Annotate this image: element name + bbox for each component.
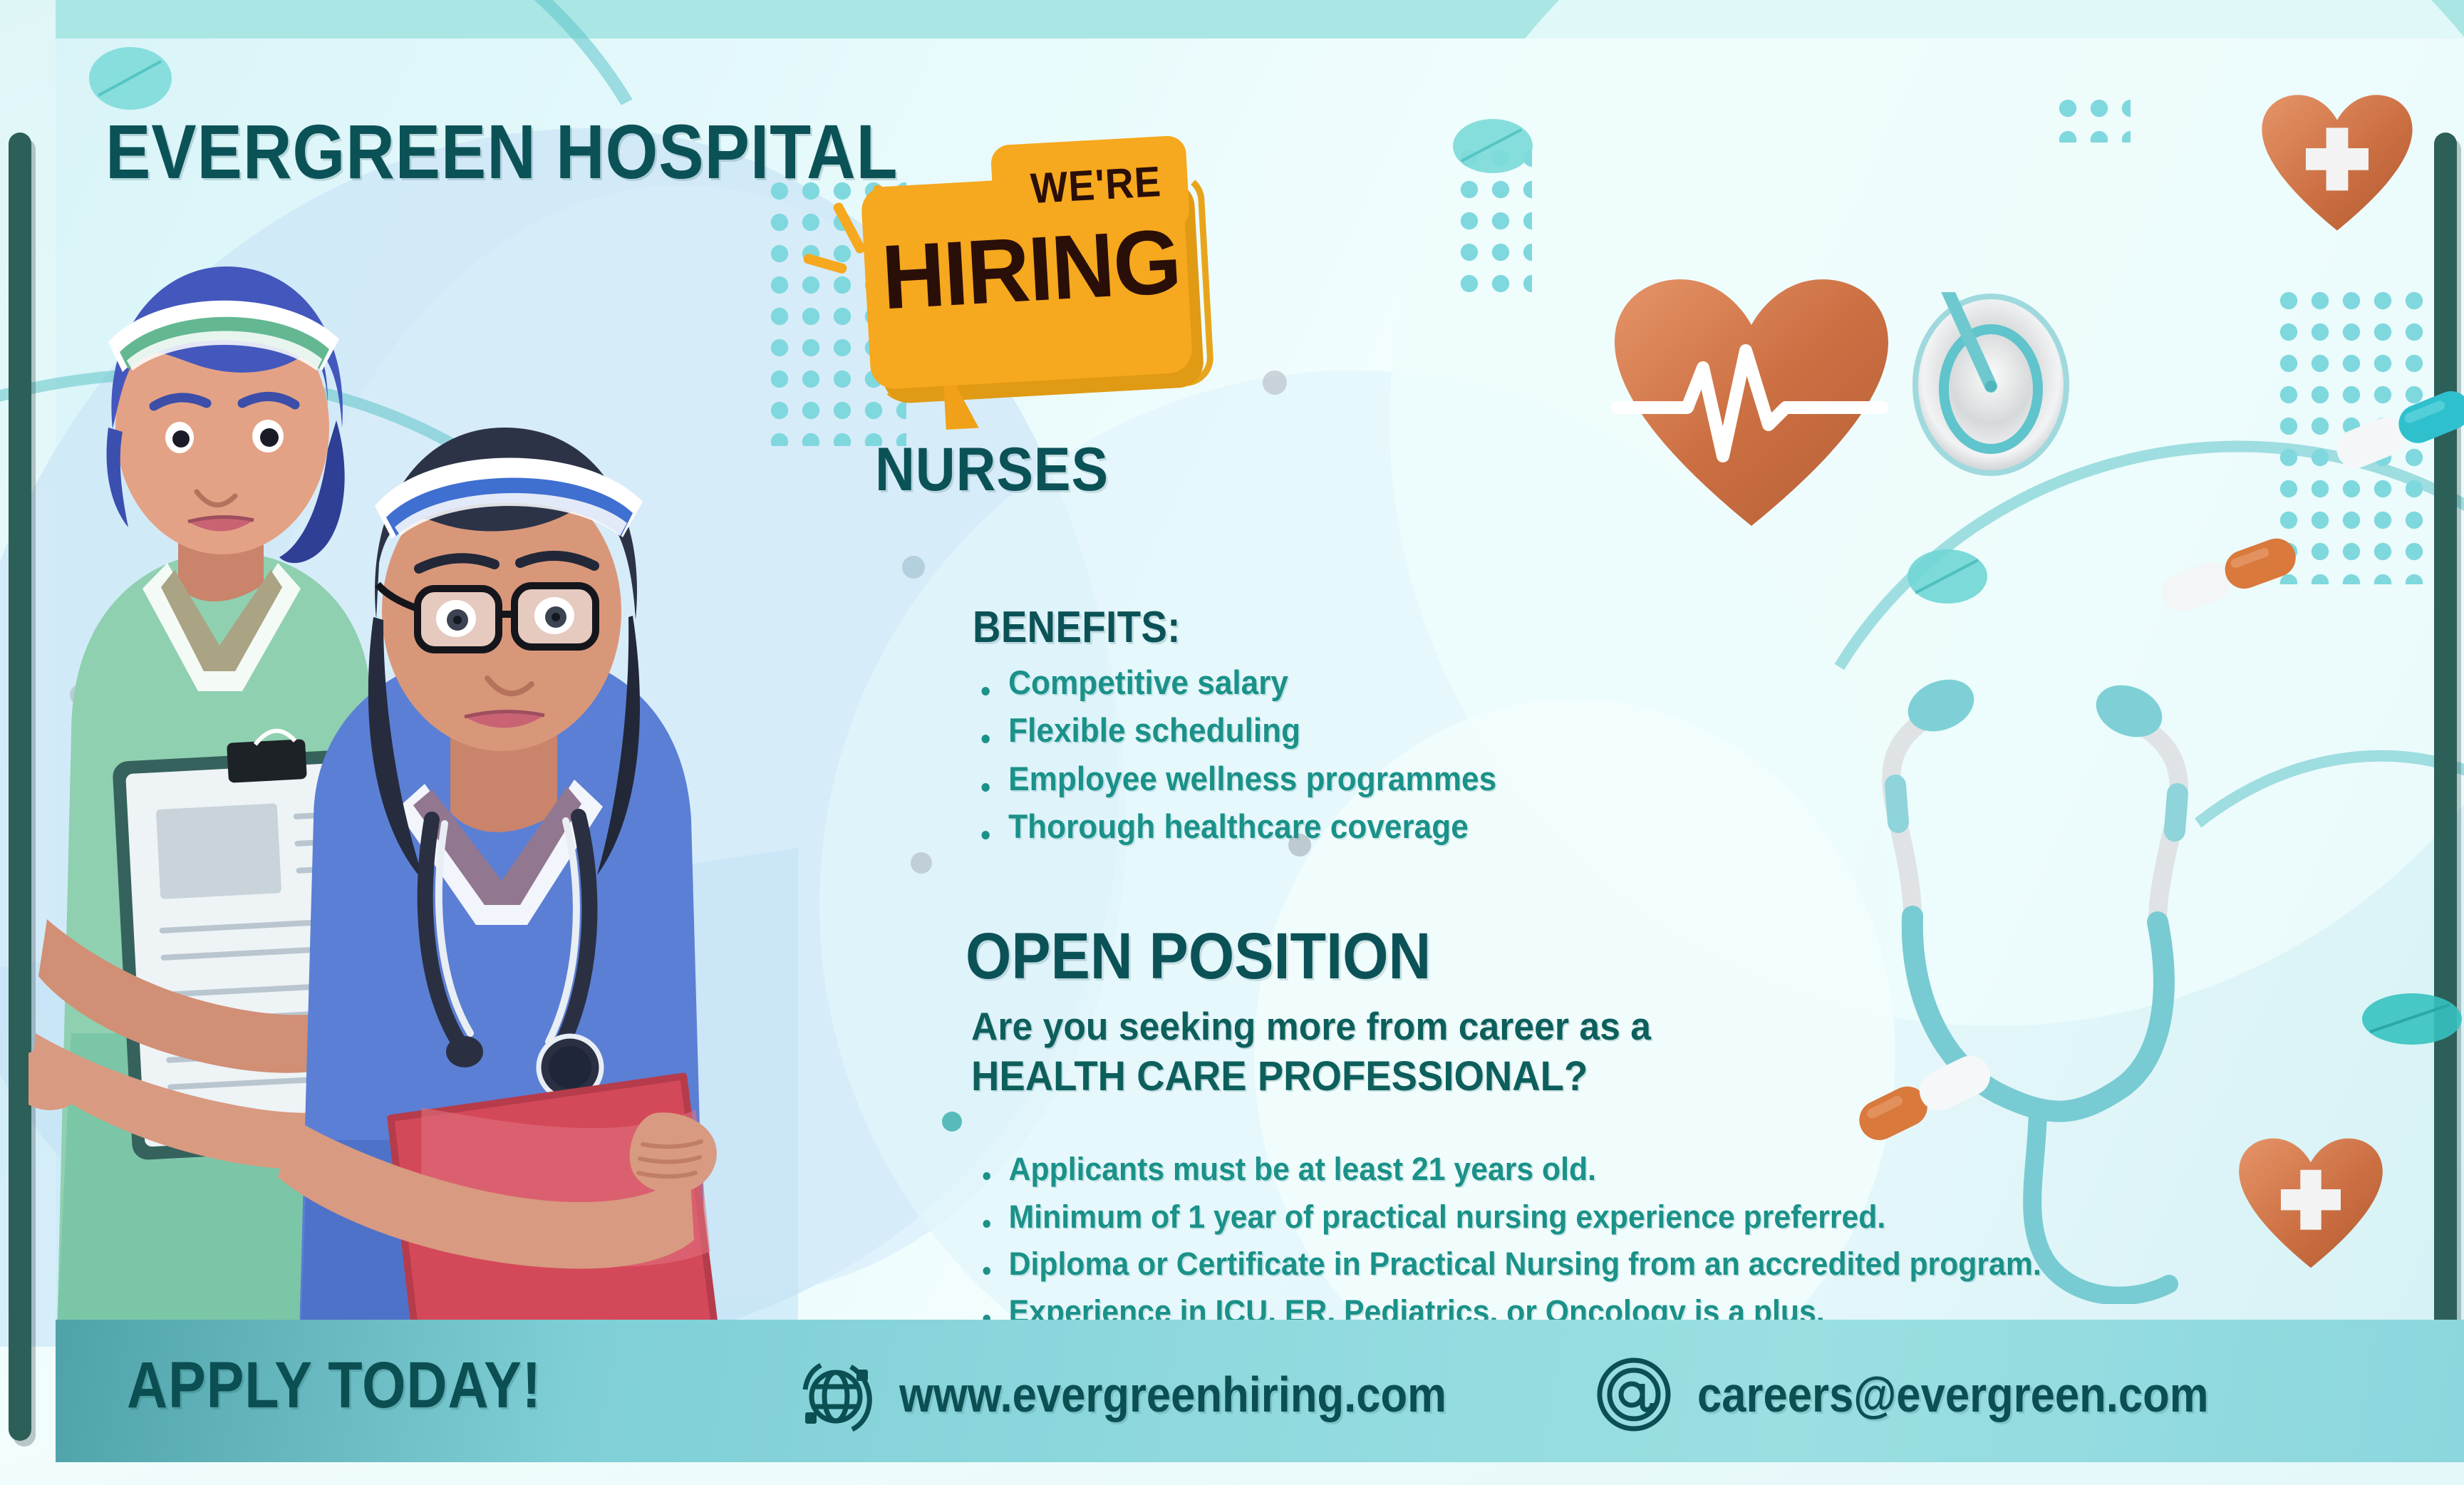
role-heading: NURSES xyxy=(875,435,1109,505)
recruitment-poster: EVERGREEN HOSPITAL WE'RE HIRING NURSES B… xyxy=(0,0,2464,1485)
frame-bar-right xyxy=(2434,133,2457,1441)
list-item: Competitive salary xyxy=(976,663,1813,702)
badge-were-label: WE'RE xyxy=(1013,156,1179,214)
heart-cross-icon-top xyxy=(2259,93,2416,235)
dot-grid-far-right xyxy=(2052,93,2131,143)
globe-icon xyxy=(797,1355,875,1434)
list-item: Thorough healthcare coverage xyxy=(976,807,1813,846)
open-position-question-line2: HEALTH CARE PROFESSIONAL? xyxy=(971,1052,1588,1100)
open-position-question-line1: Are you seeking more from career as a xyxy=(971,1003,1651,1049)
decor-dot-7 xyxy=(942,1112,962,1132)
capsule-pill-teal xyxy=(2329,390,2464,469)
decor-dot-3 xyxy=(911,852,932,874)
stethoscope-chestpiece-icon xyxy=(1910,292,2074,477)
tablet-pill-4 xyxy=(2359,983,2464,1055)
tablet-pill-2 xyxy=(84,43,177,114)
open-position-heading: OPEN POSITION xyxy=(966,919,1431,994)
page-title: EVERGREEN HOSPITAL xyxy=(105,107,898,196)
decor-dot-1 xyxy=(1263,371,1287,395)
benefits-heading: BENEFITS: xyxy=(973,602,1181,653)
list-item: Flexible scheduling xyxy=(976,710,1813,750)
requirements-list: Applicants must be at least 21 years old… xyxy=(976,1151,2423,1341)
list-item: Diploma or Certificate in Practical Nurs… xyxy=(976,1246,2351,1283)
list-item: Applicants must be at least 21 years old… xyxy=(976,1151,2351,1189)
capsule-pill-orange-2 xyxy=(1851,1055,2001,1140)
nurses-illustration xyxy=(29,192,869,1333)
tablet-pill-3 xyxy=(1901,543,1994,611)
email-address[interactable]: careers@evergreen.com xyxy=(1697,1366,2209,1423)
badge-hiring-label: HIRING xyxy=(879,217,1178,324)
heart-ecg-icon xyxy=(1609,276,1894,533)
email-contact[interactable]: careers@evergreen.com xyxy=(1595,1355,2278,1434)
list-item: Minimum of 1 year of practical nursing e… xyxy=(976,1199,2351,1236)
website-url[interactable]: www.evergreenhiring.com xyxy=(899,1366,1446,1423)
tablet-pill-1 xyxy=(1450,114,1536,178)
capsule-pill-orange-1 xyxy=(2158,536,2300,614)
list-item: Employee wellness programmes xyxy=(976,759,1813,798)
apply-today-cta: APPLY TODAY! xyxy=(127,1348,542,1423)
footer-bar: APPLY TODAY! www.evergreenhiring.com xyxy=(56,1320,2464,1462)
website-contact[interactable]: www.evergreenhiring.com xyxy=(797,1355,1521,1434)
decor-dot-2 xyxy=(902,556,925,579)
benefits-list: Competitive salary Flexible scheduling E… xyxy=(976,663,1867,855)
at-sign-icon xyxy=(1595,1355,1673,1434)
were-hiring-badge: WE'RE HIRING xyxy=(866,175,1208,410)
